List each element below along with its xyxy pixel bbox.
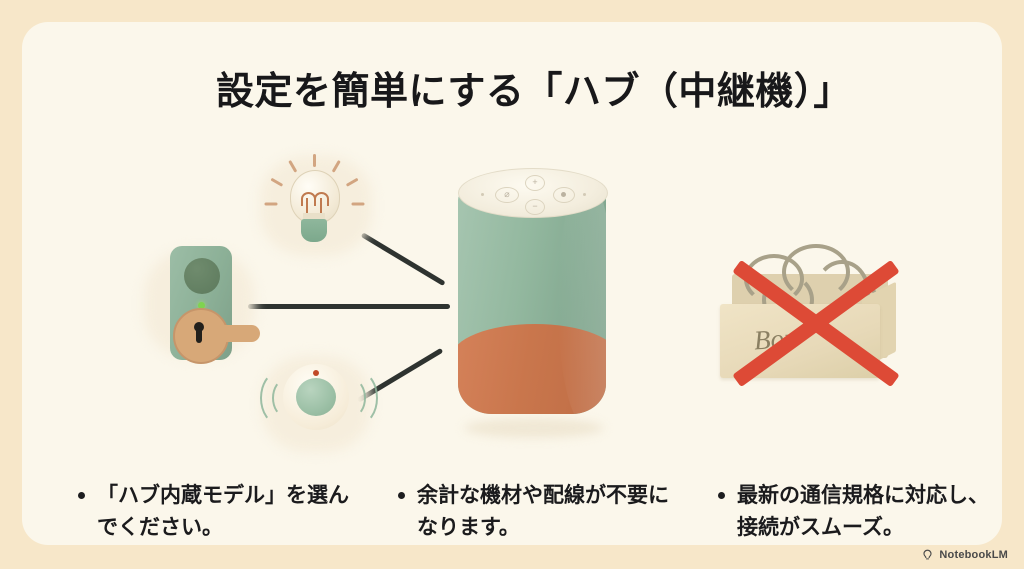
- device-smart-lock[interactable]: [140, 240, 266, 368]
- volume-up-button[interactable]: +: [525, 175, 545, 191]
- device-hub-speaker[interactable]: + − ⌀: [446, 168, 618, 438]
- bullet-dot-icon: [78, 492, 85, 499]
- list-item: 余計な機材や配線が不要になります。: [388, 480, 688, 544]
- page-title: 設定を簡単にする「ハブ（中継機）」: [22, 70, 1002, 116]
- bullet-text: 最新の通信規格に対応し、接続がスムーズ。: [737, 480, 1002, 544]
- keyhole-icon: [196, 329, 202, 343]
- bulb-ray-icon: [352, 203, 365, 206]
- slide-card: 設定を簡単にする「ハブ（中継機）」: [22, 22, 1002, 545]
- power-button[interactable]: [553, 187, 575, 203]
- hub-shadow: [464, 418, 604, 438]
- hub-control-surface[interactable]: + − ⌀: [458, 168, 608, 218]
- connector-line-lock-to-hub: [248, 304, 450, 309]
- bullet-text: 余計な機材や配線が不要になります。: [417, 480, 688, 544]
- excluded-cable-box: Box: [710, 238, 916, 414]
- hub-body: [458, 186, 606, 414]
- watermark-label: NotebookLM: [939, 549, 1008, 561]
- sensor-lens-icon: [296, 378, 336, 416]
- bulb-base: [301, 219, 327, 242]
- bullet-list: 「ハブ内蔵モデル」を選んでください。 余計な機材や配線が不要になります。 最新の…: [68, 480, 1002, 544]
- device-smart-bulb[interactable]: [250, 150, 380, 262]
- hub-indicator-dot: [481, 193, 484, 196]
- list-item: 「ハブ内蔵モデル」を選んでください。: [68, 480, 368, 544]
- device-motion-sensor[interactable]: [250, 352, 382, 456]
- volume-down-button[interactable]: −: [525, 199, 545, 215]
- lock-handle: [216, 325, 260, 342]
- slide-root: 設定を簡単にする「ハブ（中継機）」: [0, 0, 1024, 569]
- list-item: 最新の通信規格に対応し、接続がスムーズ。: [708, 480, 1002, 544]
- bulb-ray-icon: [313, 154, 316, 167]
- hub-highlight: [558, 186, 606, 414]
- sensor-status-led: [313, 370, 319, 376]
- mic-mute-button[interactable]: ⌀: [495, 187, 519, 203]
- bulb-ray-icon: [265, 203, 278, 206]
- lock-dial-icon: [184, 258, 220, 294]
- notebooklm-spark-icon: [921, 548, 934, 561]
- diagram-stage: + − ⌀ Box: [22, 140, 1002, 460]
- hub-indicator-dot: [583, 193, 586, 196]
- bullet-dot-icon: [718, 492, 725, 499]
- bullet-dot-icon: [398, 492, 405, 499]
- notebooklm-watermark: NotebookLM: [921, 548, 1008, 561]
- bullet-text: 「ハブ内蔵モデル」を選んでください。: [97, 480, 368, 544]
